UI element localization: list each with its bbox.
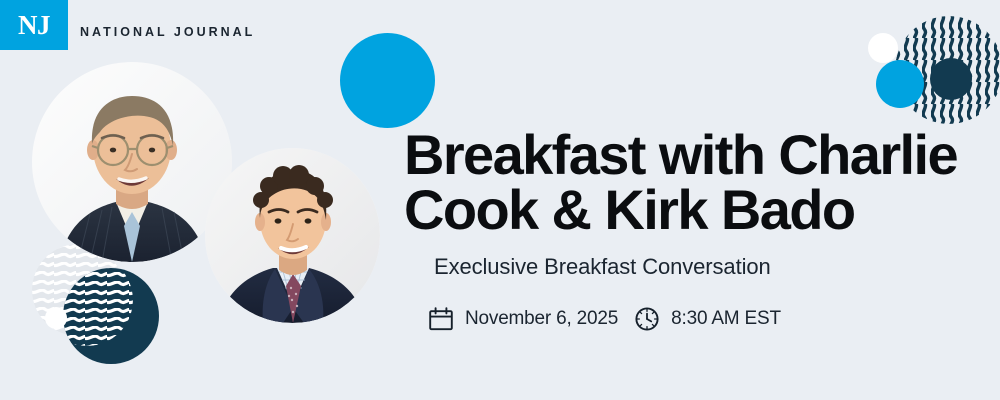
speaker-photo-charlie-cook xyxy=(32,62,232,262)
cyan-circle-decoration-top-right xyxy=(876,60,924,108)
title-line-2: Cook & Kirk Bado xyxy=(404,183,984,238)
white-circle-decoration-bottom xyxy=(45,307,67,329)
event-text-content: Breakfast with Charlie Cook & Kirk Bado … xyxy=(404,128,984,332)
event-time: 8:30 AM EST xyxy=(634,306,781,332)
speaker-photo-kirk-bado xyxy=(205,148,380,323)
event-subtitle: Execlusive Breakfast Conversation xyxy=(434,254,984,280)
national-journal-wordmark: NATIONAL JOURNAL xyxy=(80,25,255,39)
event-time-text: 8:30 AM EST xyxy=(671,308,781,330)
page-title: Breakfast with Charlie Cook & Kirk Bado xyxy=(404,128,984,238)
event-date: November 6, 2025 xyxy=(428,306,618,332)
event-date-text: November 6, 2025 xyxy=(465,308,618,330)
title-line-1: Breakfast with Charlie xyxy=(404,123,957,186)
nj-monogram-icon: NJ xyxy=(18,12,50,39)
clock-icon xyxy=(634,306,660,332)
national-journal-logo-mark[interactable]: NJ xyxy=(0,0,68,50)
event-banner: NJ NATIONAL JOURNAL xyxy=(0,0,1000,400)
event-meta-row: November 6, 2025 xyxy=(428,306,984,332)
white-circle-decoration-top xyxy=(868,33,898,63)
calendar-icon xyxy=(428,306,454,332)
cyan-circle-decoration xyxy=(340,33,435,128)
navy-wave-overlay-icon xyxy=(63,268,133,346)
navy-circle-decoration-bottom-left xyxy=(63,268,159,364)
navy-circle-decoration-top-right xyxy=(930,58,972,100)
